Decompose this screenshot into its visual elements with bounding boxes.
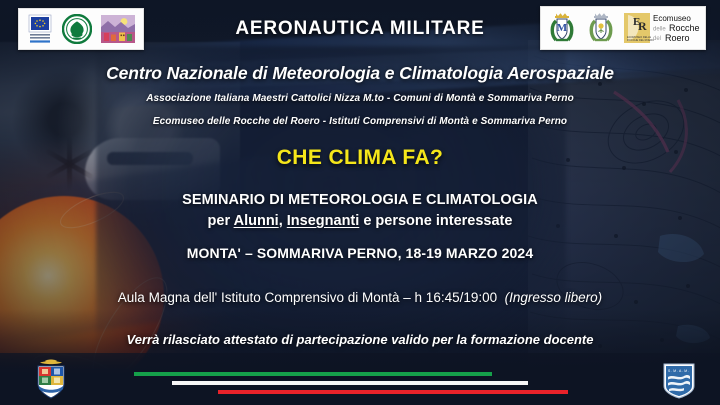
tricolor-stripe-red: [218, 390, 568, 394]
event-date-line: MONTA' – SOMMARIVA PERNO, 18-19 MARZO 20…: [0, 245, 720, 261]
audience-suffix: e persone interessate: [359, 213, 512, 229]
seminar-audience-line: per Alunni, Insegnanti e persone interes…: [0, 213, 720, 229]
tricolor-stripe-green: [134, 372, 492, 376]
organizer-line-1: Associazione Italiana Maestri Cattolici …: [0, 93, 720, 104]
audience-insegnanti: Insegnanti: [287, 213, 360, 229]
tricolor-stripe-white: [172, 381, 528, 385]
svg-text:S.M.A.M.: S.M.A.M.: [668, 369, 690, 373]
poster-root: M E R ECOMUSEO DELLE ROCCHE DEL ROERO Ec…: [0, 0, 720, 405]
venue-line: Aula Magna dell' Istituto Comprensivo di…: [0, 290, 720, 305]
servizio-meteorologico-logo: S.M.A.M.: [662, 362, 696, 400]
audience-alunni: Alunni: [234, 213, 279, 229]
venue-place: Aula Magna dell' Istituto Comprensivo di…: [118, 290, 400, 305]
seminar-title-line: SEMINARIO DI METEOROLOGIA E CLIMATOLOGIA: [0, 192, 720, 208]
aeronautica-militare-crest: [28, 358, 74, 402]
venue-separator: –: [400, 290, 415, 305]
headline-che-clima-fa: CHE CLIMA FA?: [0, 146, 720, 170]
venue-entry-note: (Ingresso libero): [505, 290, 603, 305]
audience-separator: ,: [279, 213, 287, 229]
certificate-note: Verrà rilasciato attestato di partecipaz…: [0, 332, 720, 347]
audience-prefix: per: [208, 213, 234, 229]
subtitle-centro-nazionale: Centro Nazionale di Meteorologia e Clima…: [0, 63, 720, 84]
page-title: AERONAUTICA MILITARE: [0, 18, 720, 40]
footer-bar: [0, 353, 720, 405]
organizer-line-2: Ecomuseo delle Rocche del Roero - Istitu…: [0, 116, 720, 127]
venue-time: h 16:45/19:00: [415, 290, 498, 305]
